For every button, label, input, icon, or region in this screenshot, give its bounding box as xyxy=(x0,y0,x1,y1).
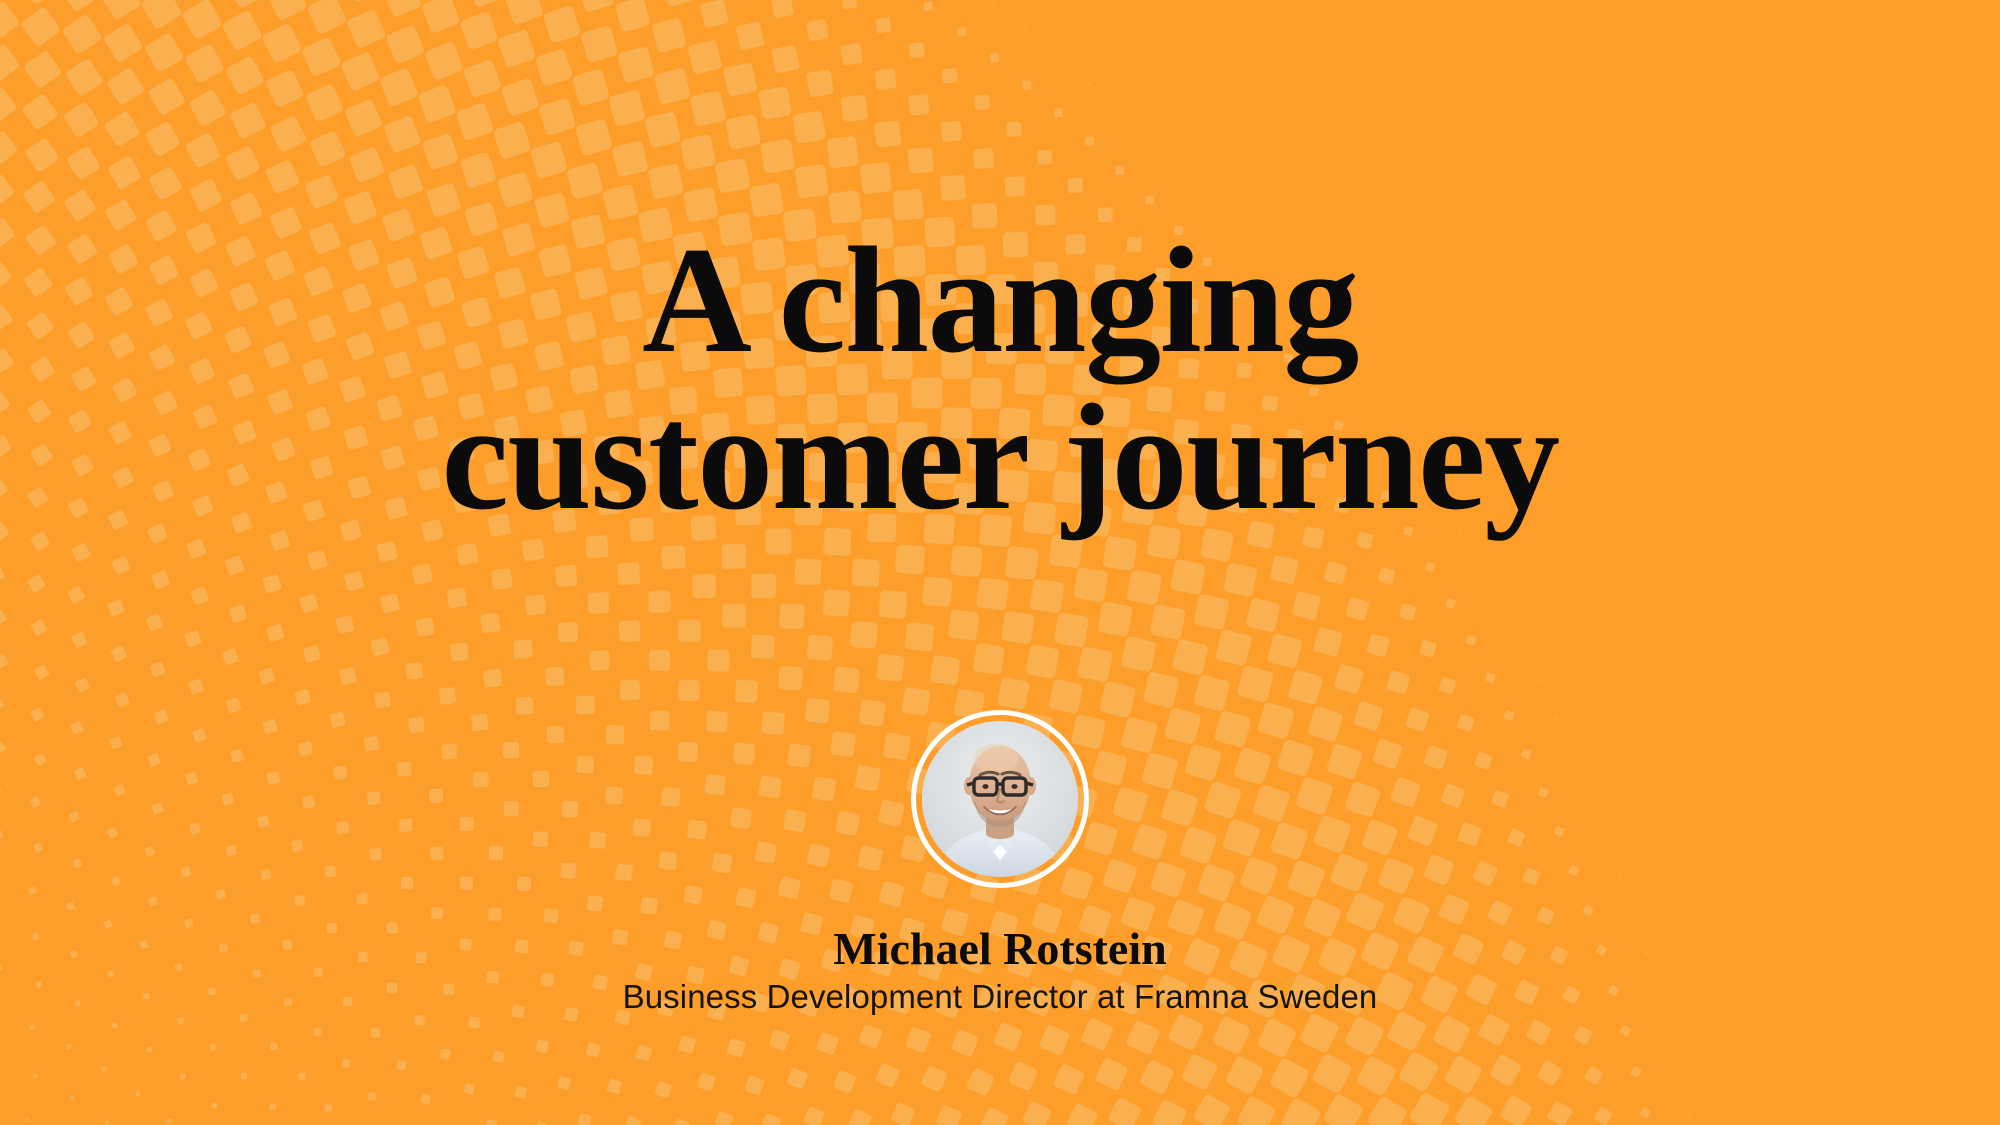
speaker-role: Business Development Director at Framna … xyxy=(0,978,2000,1016)
speaker-name: Michael Rotstein xyxy=(0,922,2000,975)
page-title: A changing customer journey xyxy=(0,222,2000,535)
slide-content: A changing customer journey xyxy=(0,0,2000,1125)
avatar xyxy=(911,710,1089,888)
title-slide: A changing customer journey xyxy=(0,0,2000,1125)
avatar-ring xyxy=(911,710,1089,888)
